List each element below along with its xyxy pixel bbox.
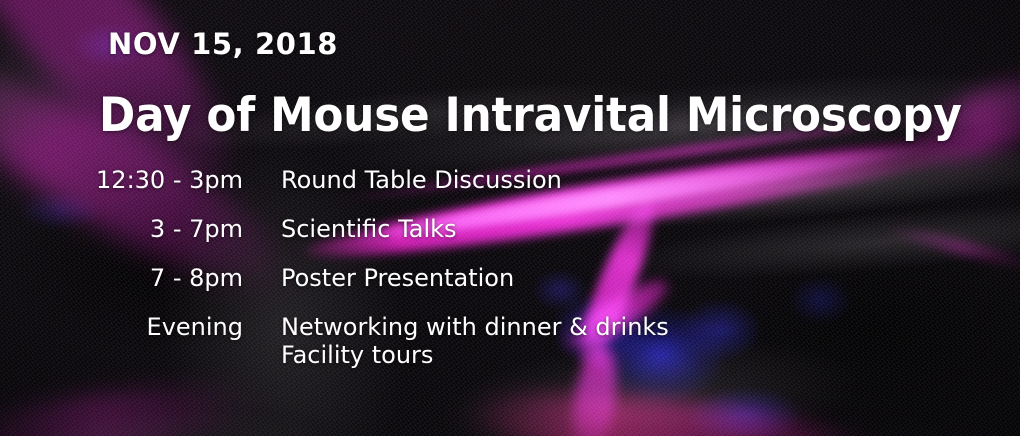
schedule-list: 12:30 - 3pmRound Table Discussion3 - 7pm… bbox=[0, 166, 720, 390]
schedule-time: Evening bbox=[0, 313, 243, 341]
schedule-row: EveningNetworking with dinner & drinksFa… bbox=[0, 313, 720, 369]
schedule-row: 3 - 7pmScientific Talks bbox=[0, 215, 720, 243]
schedule-description-line: Networking with dinner & drinks bbox=[281, 313, 669, 341]
schedule-time: 12:30 - 3pm bbox=[0, 166, 243, 194]
banner-content: NOV 15, 2018 Day of Mouse Intravital Mic… bbox=[0, 0, 1020, 436]
schedule-description-line: Round Table Discussion bbox=[281, 166, 562, 194]
schedule-description: Round Table Discussion bbox=[281, 166, 562, 194]
schedule-time: 3 - 7pm bbox=[0, 215, 243, 243]
schedule-description-line: Scientific Talks bbox=[281, 215, 457, 243]
schedule-description: Poster Presentation bbox=[281, 264, 514, 292]
event-date: NOV 15, 2018 bbox=[108, 27, 338, 61]
schedule-row: 12:30 - 3pmRound Table Discussion bbox=[0, 166, 720, 194]
schedule-description: Scientific Talks bbox=[281, 215, 457, 243]
schedule-description: Networking with dinner & drinksFacility … bbox=[281, 313, 669, 369]
schedule-description-line: Facility tours bbox=[281, 341, 669, 369]
event-banner: NOV 15, 2018 Day of Mouse Intravital Mic… bbox=[0, 0, 1020, 436]
schedule-time: 7 - 8pm bbox=[0, 264, 243, 292]
schedule-row: 7 - 8pmPoster Presentation bbox=[0, 264, 720, 292]
event-title: Day of Mouse Intravital Microscopy bbox=[99, 88, 962, 143]
schedule-description-line: Poster Presentation bbox=[281, 264, 514, 292]
